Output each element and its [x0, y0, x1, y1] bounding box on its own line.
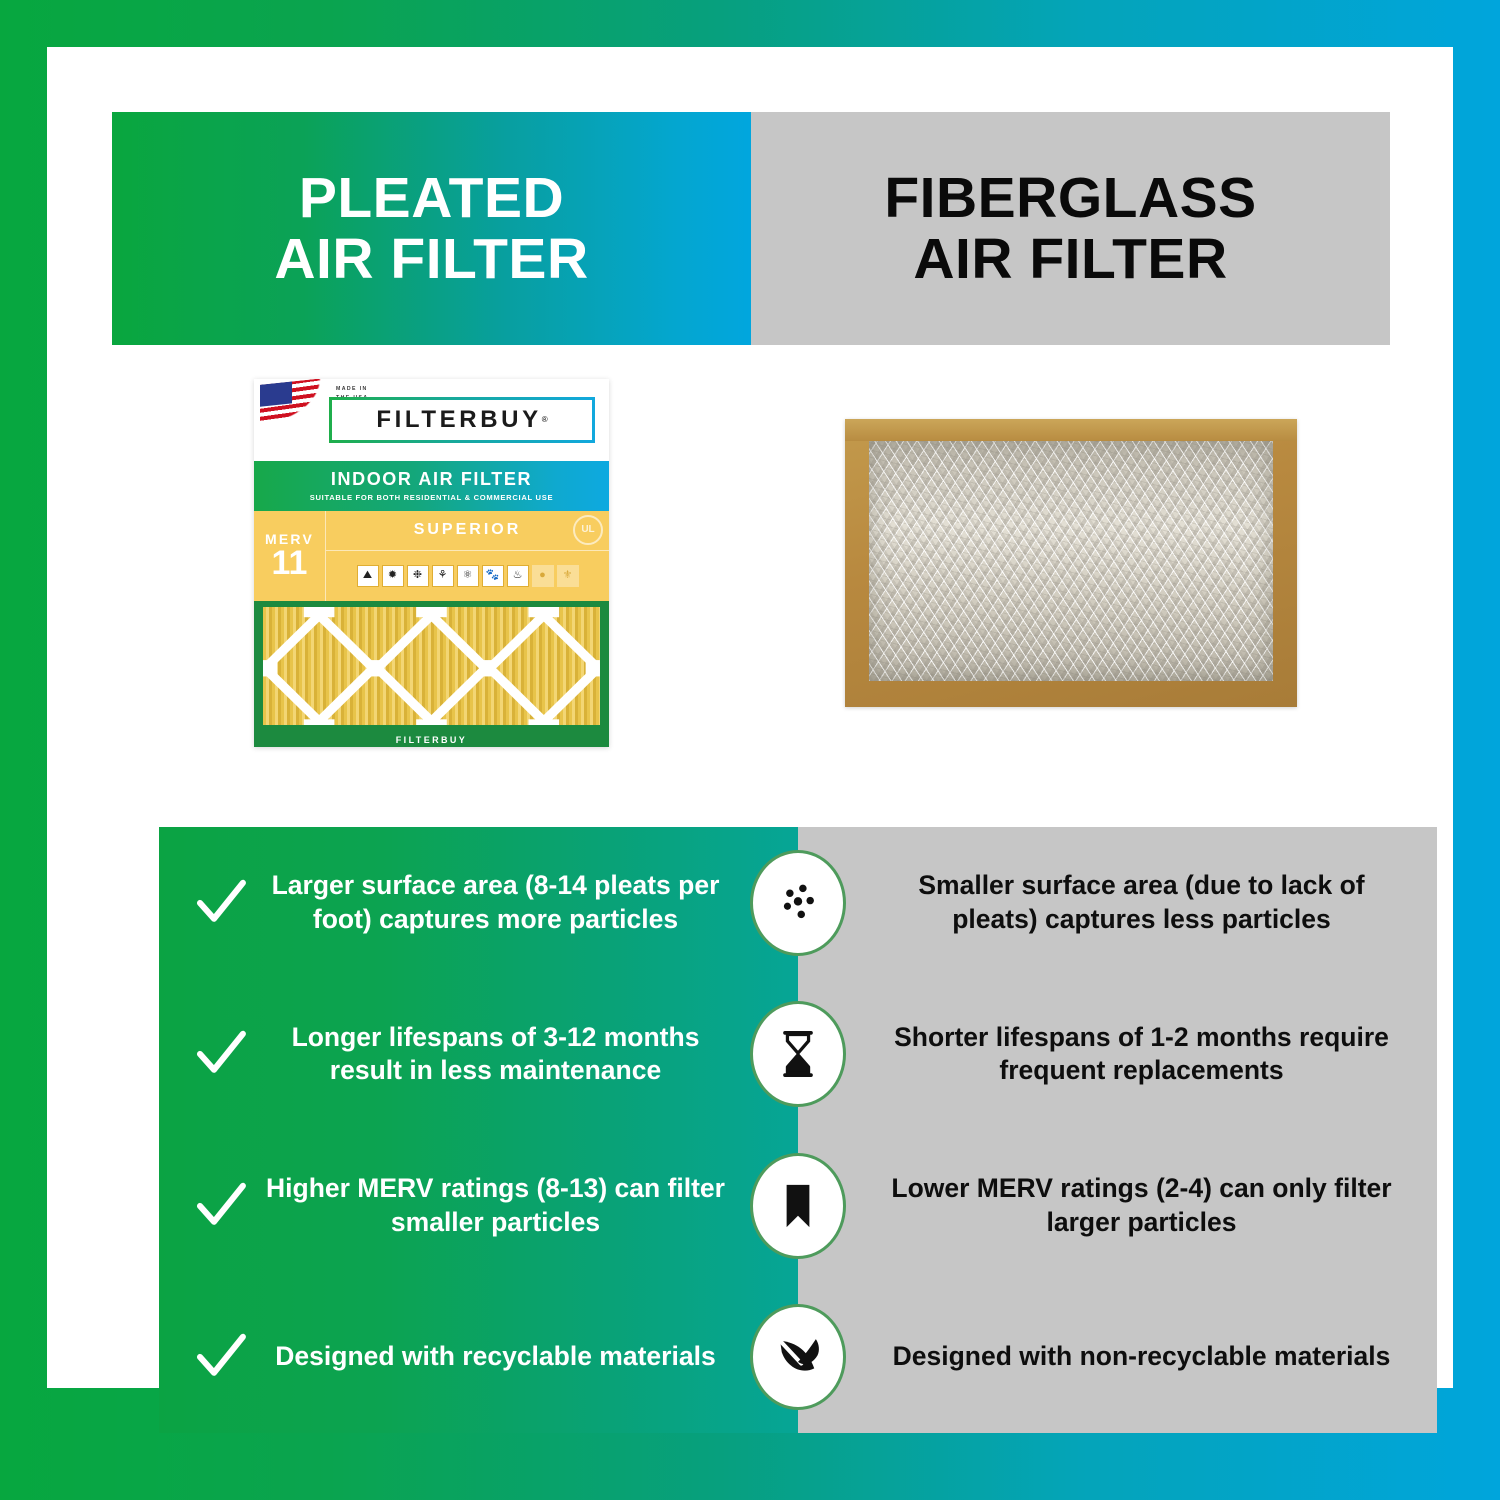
ribbon-icon-glyph: [772, 1180, 824, 1232]
ul-certification-icon: [573, 515, 603, 545]
ribbon-icon: [750, 1153, 846, 1259]
pollen-icon: ❉: [407, 565, 429, 587]
hourglass-icon: [750, 1001, 846, 1107]
check-icon: [193, 875, 249, 931]
box-top-section: MADE IN THE USA FILTERBUY®: [254, 379, 609, 461]
registered-mark: ®: [542, 415, 548, 424]
pleat-material: [263, 607, 600, 725]
insect-icon: ✹: [382, 565, 404, 587]
pleated-product-cell: MADE IN THE USA FILTERBUY® INDOOR AIR FI…: [112, 345, 751, 780]
header-pleated-title: PLEATED AIR FILTER: [274, 168, 588, 289]
band-title: INDOOR AIR FILTER: [331, 469, 532, 490]
header-fiberglass-line1: FIBERGLASS: [884, 166, 1256, 230]
leaf-icon: [750, 1304, 846, 1410]
header-pleated-line2: AIR FILTER: [274, 227, 588, 291]
row-left-text: Larger surface area (8-14 pleats per foo…: [255, 869, 736, 936]
header-fiberglass: FIBERGLASS AIR FILTER: [751, 112, 1390, 345]
product-images: MADE IN THE USA FILTERBUY® INDOOR AIR FI…: [112, 345, 1390, 780]
row-right-text: Smaller surface area (due to lack of ple…: [876, 869, 1407, 936]
row-right-cell: Lower MERV ratings (2-4) can only filter…: [798, 1172, 1437, 1239]
check-icon: [193, 1026, 249, 1082]
row-left-text: Higher MERV ratings (8-13) can filter sm…: [255, 1172, 736, 1239]
row-left-cell: Higher MERV ratings (8-13) can filter sm…: [159, 1172, 798, 1239]
comparison-row: Designed with recyclable materials Desig…: [159, 1282, 1437, 1434]
fiberglass-product-cell: [751, 345, 1390, 780]
band-subtitle: SUITABLE FOR BOTH RESIDENTIAL & COMMERCI…: [310, 493, 554, 502]
comparison-row: Higher MERV ratings (8-13) can filter sm…: [159, 1130, 1437, 1282]
particles-icon-glyph: [772, 877, 824, 929]
brand-logo: FILTERBUY®: [329, 397, 595, 443]
pleated-filter-box: MADE IN THE USA FILTERBUY® INDOOR AIR FI…: [254, 379, 609, 747]
check-icon: [193, 1329, 249, 1385]
row-right-cell: Smaller surface area (due to lack of ple…: [798, 869, 1437, 936]
made-in-line1: MADE IN: [336, 386, 368, 392]
smoke-icon: ♨: [507, 565, 529, 587]
indoor-air-filter-band: INDOOR AIR FILTER SUITABLE FOR BOTH RESI…: [254, 461, 609, 511]
header-pleated-line1: PLEATED: [299, 166, 564, 230]
virus-icon: ⚜: [557, 565, 579, 587]
merv-section: MERV 11 SUPERIOR ⛰ ✹ ❉ ⚘ ⚛: [254, 511, 609, 601]
odor-icon: ●: [532, 565, 554, 587]
pet-dander-icon: 🐾: [482, 565, 504, 587]
wire-mesh-icon: [263, 607, 600, 725]
grade-column: SUPERIOR ⛰ ✹ ❉ ⚘ ⚛ 🐾 ♨ ● ⚜: [326, 511, 609, 601]
header-fiberglass-title: FIBERGLASS AIR FILTER: [884, 168, 1256, 289]
merv-value: 11: [272, 547, 308, 579]
row-right-text: Designed with non-recyclable materials: [876, 1340, 1407, 1374]
grade-label: SUPERIOR: [414, 521, 522, 539]
row-left-cell: Designed with recyclable materials: [159, 1329, 798, 1385]
row-right-text: Lower MERV ratings (2-4) can only filter…: [876, 1172, 1407, 1239]
fiberglass-filter-image: [845, 419, 1297, 707]
row-right-cell: Shorter lifespans of 1-2 months require …: [798, 1021, 1437, 1088]
feature-icon-row: ⛰ ✹ ❉ ⚘ ⚛ 🐾 ♨ ● ⚜: [326, 551, 609, 601]
usa-flag-icon: [260, 379, 332, 427]
box-footer-brand: FILTERBUY: [254, 735, 609, 745]
check-icon: [193, 1178, 249, 1234]
infographic-card: PLEATED AIR FILTER FIBERGLASS AIR FILTER…: [47, 47, 1453, 1388]
brand-name: FILTERBUY: [376, 406, 541, 434]
comparison-row: Longer lifespans of 3-12 months result i…: [159, 979, 1437, 1131]
comparison-table: Larger surface area (8-14 pleats per foo…: [159, 827, 1437, 1433]
row-left-cell: Larger surface area (8-14 pleats per foo…: [159, 869, 798, 936]
row-left-text: Longer lifespans of 3-12 months result i…: [255, 1021, 736, 1088]
dust-icon: ⛰: [357, 565, 379, 587]
particles-icon: [750, 850, 846, 956]
header-pleated: PLEATED AIR FILTER: [112, 112, 751, 345]
hourglass-icon-glyph: [772, 1028, 824, 1080]
mold-icon: ⚘: [432, 565, 454, 587]
header-band: PLEATED AIR FILTER FIBERGLASS AIR FILTER: [112, 112, 1390, 345]
row-left-text: Designed with recyclable materials: [255, 1340, 736, 1374]
leaf-icon-glyph: [772, 1331, 824, 1383]
merv-block: MERV 11: [254, 511, 326, 601]
row-right-cell: Designed with non-recyclable materials: [798, 1340, 1437, 1374]
grade-row: SUPERIOR: [326, 511, 609, 551]
row-right-text: Shorter lifespans of 1-2 months require …: [876, 1021, 1407, 1088]
pleat-media-area: FILTERBUY: [254, 601, 609, 747]
fiberglass-mesh: [869, 441, 1273, 681]
bacteria-icon: ⚛: [457, 565, 479, 587]
header-fiberglass-line2: AIR FILTER: [913, 227, 1227, 291]
comparison-row: Larger surface area (8-14 pleats per foo…: [159, 827, 1437, 979]
row-left-cell: Longer lifespans of 3-12 months result i…: [159, 1021, 798, 1088]
